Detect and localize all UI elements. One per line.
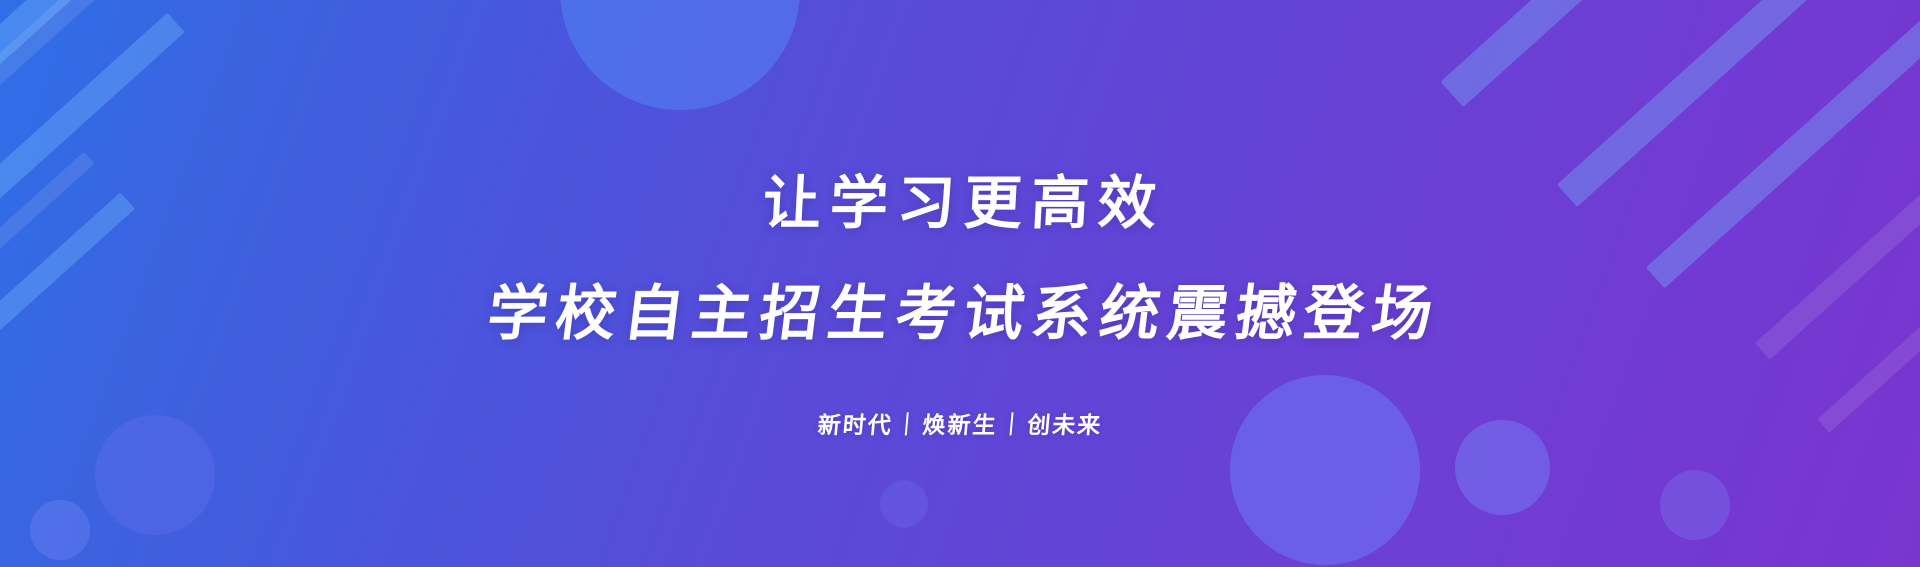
- subtitle-separator-2: |: [996, 410, 1028, 436]
- banner-headline-secondary: 学校自主招生考试系统震撼登场: [476, 284, 1443, 344]
- banner-content: 让学习更高效 学校自主招生考试系统震撼登场 新时代 | 焕新生 | 创未来: [0, 0, 1920, 567]
- subtitle-part-2: 焕新生: [921, 406, 999, 440]
- banner-headline-primary: 让学习更高效: [753, 174, 1167, 232]
- promo-banner: 让学习更高效 学校自主招生考试系统震撼登场 新时代 | 焕新生 | 创未来: [0, 0, 1920, 567]
- subtitle-part-3: 创未来: [1026, 406, 1104, 440]
- subtitle-separator-1: |: [892, 410, 924, 436]
- banner-subtitle: 新时代 | 焕新生 | 创未来: [816, 406, 1103, 440]
- subtitle-part-1: 新时代: [816, 406, 894, 440]
